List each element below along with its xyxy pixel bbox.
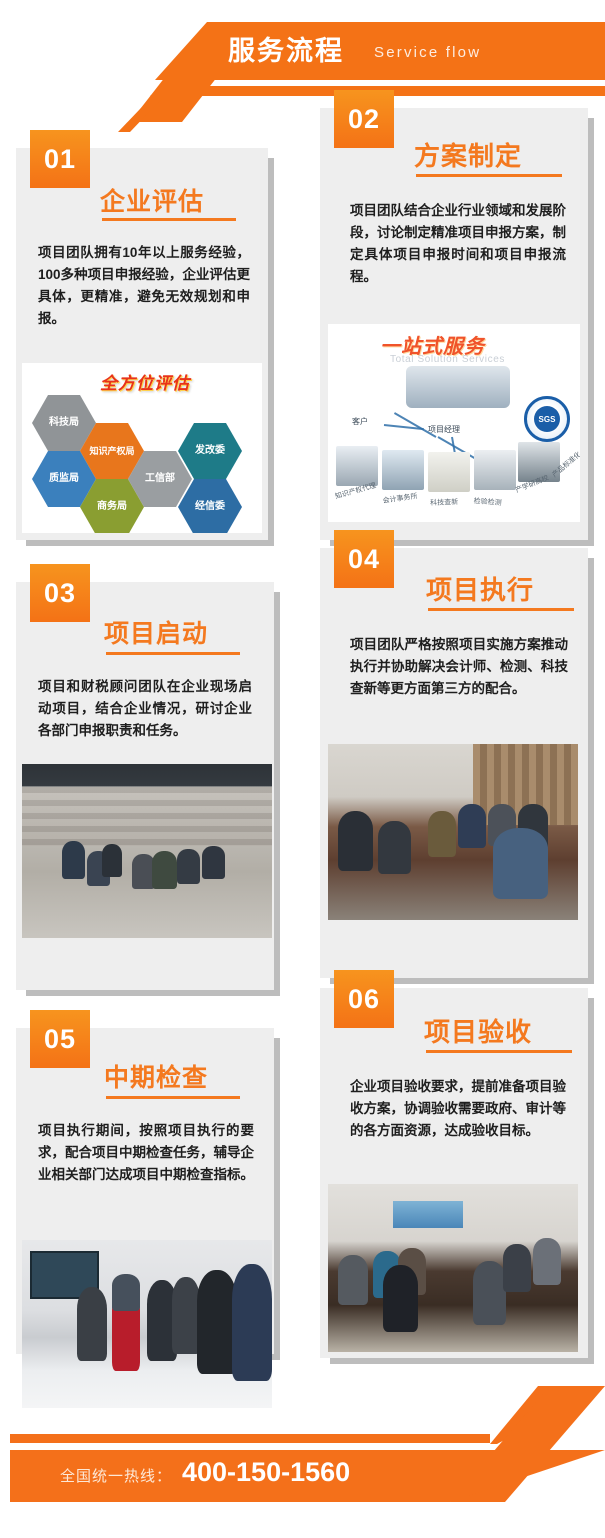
hotline-number[interactable]: 400-150-1560 [182, 1457, 350, 1488]
kickoff-meeting-photo [22, 764, 272, 938]
oss-certification-seal: SGS [524, 396, 570, 442]
oss-foot-accounting: 会计事务所 [382, 491, 418, 506]
card-body-text: 项目团队严格按照项目实施方案推动执行并协助解决会计师、检测、科技查新等更方面第三… [350, 634, 568, 700]
card-shadow-right [588, 998, 594, 1364]
header-banner: 服务流程 Service flow [0, 0, 605, 120]
oss-node-accounting [382, 450, 424, 490]
card-shadow-right [588, 118, 594, 546]
footer-stripe [10, 1434, 490, 1443]
step-number-badge: 04 [334, 530, 394, 588]
step-card-02[interactable]: 02 方案制定 项目团队结合企业行业领域和发展阶段，讨论制定精准项目申报方案，制… [320, 108, 588, 540]
card-shadow-right [268, 158, 274, 546]
card-body-text: 企业项目验收要求，提前准备项目验收方案，协调验收需要政府、审计等的各方面资源，达… [350, 1076, 566, 1142]
card-body-text: 项目执行期间，按照项目执行的要求，配合项目中期检查任务，辅导企业相关部门达成项目… [38, 1120, 254, 1186]
step-number-badge: 01 [30, 130, 90, 188]
card-title: 方案制定 [414, 136, 522, 173]
step-card-06[interactable]: 06 项目验收 企业项目验收要求，提前准备项目验收方案，协调验收需要政府、审计等… [320, 988, 588, 1358]
hex-node-jxw: 经信委 [178, 479, 242, 533]
card-shadow-right [274, 592, 280, 996]
oss-subtitle: Total Solution Services [390, 354, 505, 365]
card-body-text: 项目团队拥有10年以上服务经验，100多种项目申报经验，企业评估更具体，更精准，… [38, 242, 250, 330]
card-body-text: 项目团队结合企业行业领域和发展阶段，讨论制定精准项目申报方案，制定具体项目申报时… [350, 200, 566, 288]
oss-node-testing [474, 450, 516, 490]
title-underline [416, 174, 562, 177]
card-title: 项目启动 [104, 614, 208, 650]
step-card-03[interactable]: 03 项目启动 项目和财税顾问团队在企业现场启动项目，结合企业情况，研讨企业各部… [16, 582, 274, 990]
step-card-05[interactable]: 05 中期检查 项目执行期间，按照项目执行的要求，配合项目中期检查任务，辅导企业… [16, 1028, 274, 1354]
hex-node-fgw: 发改委 [178, 423, 242, 479]
card-title: 企业评估 [100, 182, 204, 218]
oss-foot-testing: 检验检测 [473, 496, 502, 508]
oss-node-novelty [428, 452, 470, 492]
oss-foot-novelty: 科技查新 [430, 497, 458, 508]
step-number-badge: 02 [334, 90, 394, 148]
title-underline [428, 608, 574, 611]
execution-working-session-photo [328, 744, 578, 920]
title-underline [106, 652, 240, 655]
page-subtitle: Service flow [374, 42, 481, 64]
card-title: 项目验收 [424, 1012, 532, 1049]
hotline-label: 全国统一热线： [60, 1465, 172, 1486]
footer-hotline-banner: 全国统一热线： 400-150-1560 [0, 1378, 605, 1538]
one-stop-service-diagram: 一站式服务 Total Solution Services 客户 项目经理 SG… [328, 324, 580, 522]
page-title: 服务流程 [228, 33, 344, 69]
title-underline [102, 218, 236, 221]
service-flow-infographic: 服务流程 Service flow 01 企业评估 项目团队拥有10年以上服务经… [0, 0, 605, 1538]
card-title: 项目执行 [426, 570, 534, 607]
card-title: 中期检查 [104, 1058, 208, 1094]
step-number-badge: 05 [30, 1010, 90, 1068]
step-number-badge: 03 [30, 564, 90, 622]
title-underline [106, 1096, 240, 1099]
hexagon-assessment-diagram: 全方位评估 科技局 知识产权局 质监局 商务局 工信部 发改委 经信委 [22, 363, 262, 533]
step-card-01[interactable]: 01 企业评估 项目团队拥有10年以上服务经验，100多种项目申报经验，企业评估… [16, 148, 268, 540]
card-shadow-right [274, 1038, 280, 1360]
card-shadow-bottom [330, 1358, 594, 1364]
card-shadow-right [588, 558, 594, 984]
step-number-badge: 06 [334, 970, 394, 1028]
card-body-text: 项目和财税顾问团队在企业现场启动项目，结合企业情况，研讨企业各部门申报职责和任务… [38, 676, 252, 742]
oss-seal-text: SGS [534, 406, 560, 432]
oss-label-customer: 客户 [352, 416, 368, 427]
hex-diagram-title: 全方位评估 [100, 369, 190, 394]
title-underline [426, 1050, 572, 1053]
step-card-04[interactable]: 04 项目执行 项目团队严格按照项目实施方案推动执行并协助解决会计师、检测、科技… [320, 548, 588, 978]
acceptance-review-photo [328, 1184, 578, 1352]
oss-hub-photo [406, 366, 510, 408]
card-shadow-bottom [26, 990, 280, 996]
card-shadow-bottom [26, 540, 274, 546]
